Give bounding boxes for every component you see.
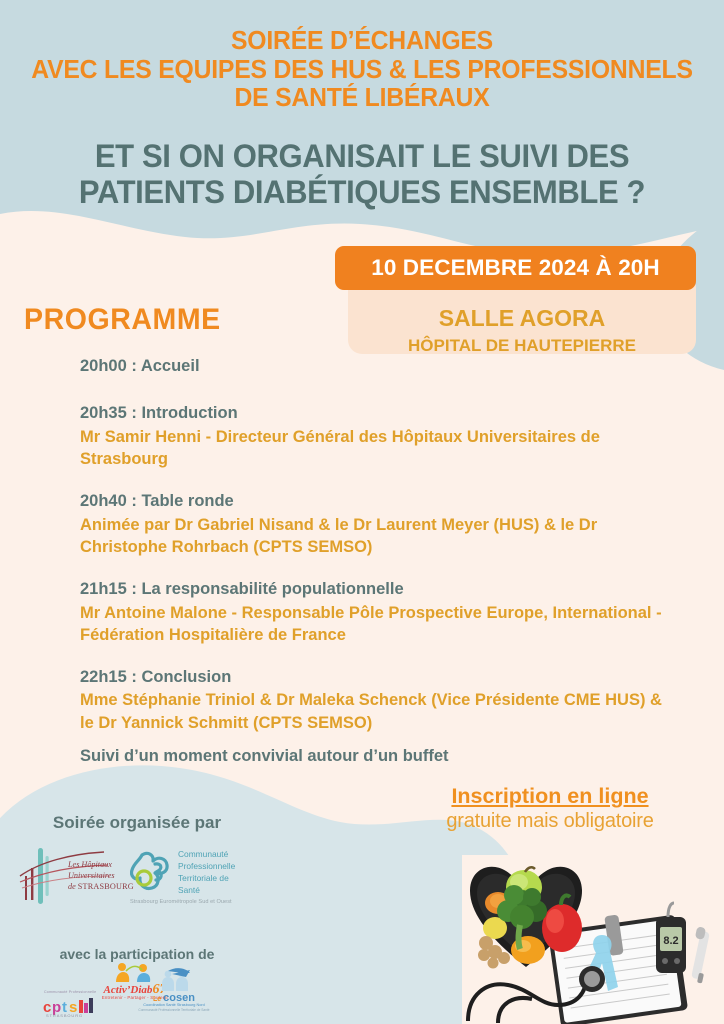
cpts-semso-line-4: Santé <box>178 885 235 897</box>
cpts-semso-mark <box>130 850 174 896</box>
cpts-semso-line-1: Communauté <box>178 849 235 861</box>
organisers-heading: Soirée organisée par <box>32 813 242 833</box>
hus-logo: Les Hôpitaux Universitaires de STRASBOUR… <box>18 846 128 908</box>
programme-item-time: 20h35 : Introduction <box>80 402 680 425</box>
programme-item: 22h15 : Conclusion Mme Stéphanie Triniol… <box>80 666 680 734</box>
hus-logo-text: Les Hôpitaux Universitaires de STRASBOUR… <box>68 860 134 892</box>
programme-item: 20h40 : Table ronde Animée par Dr Gabrie… <box>80 490 680 558</box>
cpts-strasbourg-top: Communauté Professionnelle <box>44 990 96 994</box>
programme-closing: Suivi d’un moment convivial autour d’un … <box>80 747 680 766</box>
programme-heading: PROGRAMME <box>24 303 221 337</box>
cpts-strasbourg-sub: STRASBOURG <box>46 1013 83 1018</box>
svg-text:8.2: 8.2 <box>663 935 678 947</box>
subtitle-line-1: ET SI ON ORGANISAIT LE SUIVI DES <box>11 139 713 175</box>
health-photo: 8.2 <box>462 855 724 1024</box>
participation-heading: avec la participation de <box>32 946 242 962</box>
programme-item-time: 20h00 : Accueil <box>80 355 680 378</box>
cosen-logo: Le cosen Coordination Santé Strasbourg N… <box>138 968 210 1014</box>
cpts-semso-line-3: Territoriale de <box>178 873 235 885</box>
registration-block[interactable]: Inscription en ligne gratuite mais oblig… <box>400 784 700 833</box>
cpts-strasbourg-logo: Communauté Professionnelle c p t s STRAS… <box>34 990 100 1020</box>
main-title-line-3: DE SANTÉ LIBÉRAUX <box>11 84 713 113</box>
main-title: SOIRÉE D’ÉCHANGES AVEC LES EQUIPES DES H… <box>11 27 713 113</box>
hus-logo-line-3: de STRASBOURG <box>68 882 134 893</box>
programme-item: 20h00 : Accueil <box>80 355 680 378</box>
programme-item: 21h15 : La responsabilité populationnell… <box>80 578 680 646</box>
hus-logo-line-2: Universitaires <box>68 871 134 882</box>
main-title-line-1: SOIRÉE D’ÉCHANGES <box>11 27 713 56</box>
registration-note: gratuite mais obligatoire <box>400 810 700 833</box>
date-banner: 10 DECEMBRE 2024 À 20H <box>335 246 696 290</box>
date-banner-text: 10 DECEMBRE 2024 À 20H <box>371 255 660 281</box>
registration-link[interactable]: Inscription en ligne <box>400 784 700 809</box>
cosen-figures-icon <box>138 968 210 994</box>
cosen-sub-2: Communauté Professionnelle Territoriale … <box>138 1008 210 1012</box>
programme-item: 20h35 : Introduction Mr Samir Henni - Di… <box>80 402 680 470</box>
cpts-semso-logo: Communauté Professionnelle Territoriale … <box>130 848 270 910</box>
venue-name: SALLE AGORA <box>348 305 696 332</box>
hus-logo-line-3-prefix: de <box>68 882 78 891</box>
cpts-semso-line-2: Professionnelle <box>178 861 235 873</box>
hus-logo-line-3-name: STRASBOURG <box>78 882 134 891</box>
cosen-prefix: Le <box>153 996 163 1003</box>
venue-sub: HÔPITAL DE HAUTEPIERRE <box>348 336 696 356</box>
programme-item-time: 21h15 : La responsabilité populationnell… <box>80 578 680 601</box>
programme-item-desc: Mme Stéphanie Triniol & Dr Maleka Schenc… <box>80 689 680 733</box>
subtitle: ET SI ON ORGANISAIT LE SUIVI DES PATIENT… <box>11 139 713 211</box>
cosen-sub-1: Coordination Santé Strasbourg Nord <box>138 1003 210 1007</box>
programme-item-time: 22h15 : Conclusion <box>80 666 680 689</box>
programme-item-desc: Mr Samir Henni - Directeur Général des H… <box>80 426 680 470</box>
main-title-line-2: AVEC LES EQUIPES DES HUS & LES PROFESSIO… <box>11 56 713 85</box>
programme-item-desc: Mr Antoine Malone - Responsable Pôle Pro… <box>80 602 680 646</box>
programme-item-desc: Animée par Dr Gabriel Nisand & le Dr Lau… <box>80 514 680 558</box>
cpts-semso-footer: Strasbourg Eurométropole Sud et Ouest <box>130 899 270 905</box>
poster-content: SOIRÉE D’ÉCHANGES AVEC LES EQUIPES DES H… <box>0 0 724 1024</box>
programme-list: 20h00 : Accueil 20h35 : Introduction Mr … <box>80 355 680 766</box>
poster: SOIRÉE D’ÉCHANGES AVEC LES EQUIPES DES H… <box>0 0 724 1024</box>
programme-item-time: 20h40 : Table ronde <box>80 490 680 513</box>
cpts-semso-text: Communauté Professionnelle Territoriale … <box>178 849 235 897</box>
subtitle-line-2: PATIENTS DIABÉTIQUES ENSEMBLE ? <box>11 175 713 211</box>
hus-logo-line-1: Les Hôpitaux <box>68 860 134 871</box>
